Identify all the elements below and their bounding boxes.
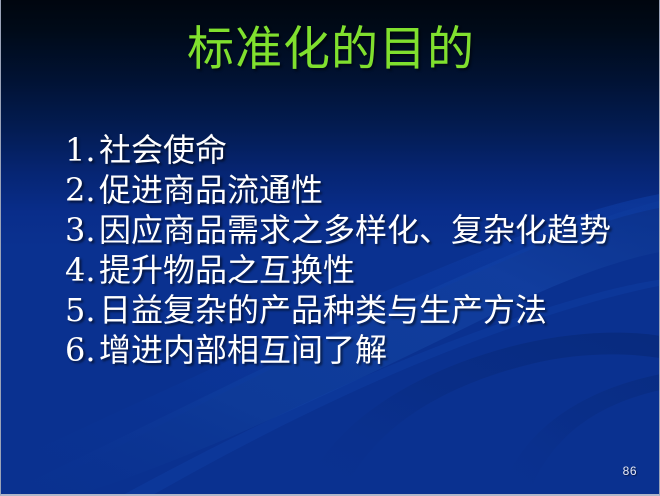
list-item-text: 促进商品流通性 bbox=[99, 170, 323, 210]
list-item: 6. 增进内部相互间了解 bbox=[65, 330, 655, 370]
list-item-text: 社会使命 bbox=[99, 130, 227, 170]
list-item-number: 1. bbox=[65, 130, 99, 170]
list-item-text: 因应商品需求之多样化、复杂化趋势 bbox=[99, 210, 611, 250]
list-item-text: 增进内部相互间了解 bbox=[99, 330, 387, 370]
list-item: 4. 提升物品之互换性 bbox=[65, 250, 655, 290]
list-item-text: 日益复杂的产品种类与生产方法 bbox=[99, 290, 547, 330]
list-item-number: 6. bbox=[65, 330, 99, 370]
list-item-number: 4. bbox=[65, 250, 99, 290]
page-number: 86 bbox=[623, 464, 637, 478]
presentation-slide: 标准化的目的 1. 社会使命 2. 促进商品流通性 3. 因应商品需求之多样化、… bbox=[0, 0, 660, 496]
list-item: 3. 因应商品需求之多样化、复杂化趋势 bbox=[65, 210, 655, 250]
slide-title: 标准化的目的 bbox=[1, 24, 660, 77]
list-item-text: 提升物品之互换性 bbox=[99, 250, 355, 290]
list-item: 1. 社会使命 bbox=[65, 130, 655, 170]
list-item-number: 5. bbox=[65, 290, 99, 330]
slide-body-list: 1. 社会使命 2. 促进商品流通性 3. 因应商品需求之多样化、复杂化趋势 4… bbox=[65, 130, 655, 370]
list-item: 2. 促进商品流通性 bbox=[65, 170, 655, 210]
list-item-number: 2. bbox=[65, 170, 99, 210]
list-item: 5. 日益复杂的产品种类与生产方法 bbox=[65, 290, 655, 330]
list-item-number: 3. bbox=[65, 210, 99, 250]
